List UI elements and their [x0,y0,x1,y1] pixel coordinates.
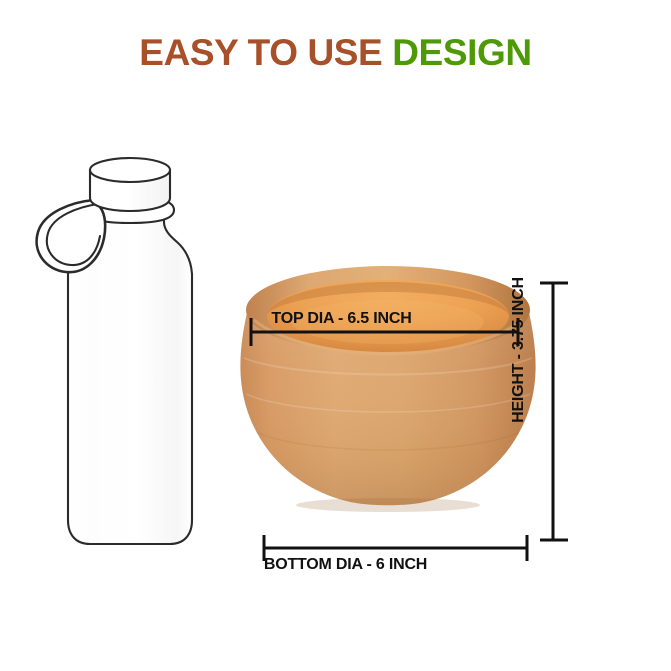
bottom-dia-label: BOTTOM DIA - 6 INCH [0,556,671,574]
infographic-canvas: EASY TO USE DESIGN [0,0,671,671]
terracotta-bowl [238,262,538,547]
bottle-cap-top [90,158,170,182]
page-title-primary: EASY TO USE [139,32,382,73]
bowl-ground-shadow [296,498,480,512]
reference-water-bottle [20,150,240,565]
page-title-accent: DESIGN [392,32,531,73]
top-dia-label: TOP DIA - 6.5 INCH [0,310,671,328]
height-label: HEIGHT - 3.75 INCH [510,260,528,440]
page-title: EASY TO USE DESIGN [0,32,671,74]
